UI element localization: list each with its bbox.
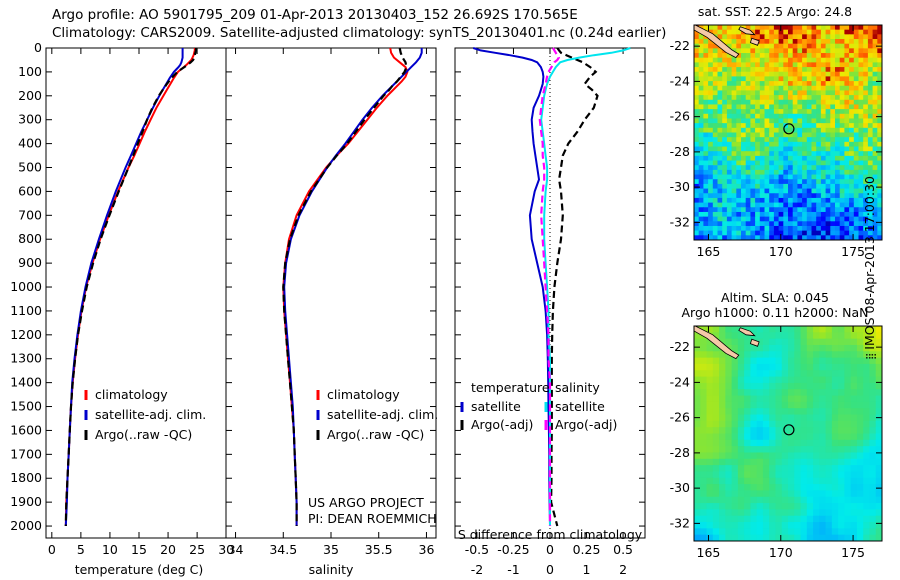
map-cell xyxy=(819,332,826,339)
map-cell xyxy=(779,53,784,58)
map-cell xyxy=(722,67,727,72)
map-cell xyxy=(873,86,878,91)
map-cell xyxy=(750,95,755,100)
map-cell xyxy=(725,478,732,485)
map-cell xyxy=(863,137,868,142)
map-cell xyxy=(732,175,737,180)
map-cell xyxy=(694,358,701,365)
map-cell xyxy=(844,48,849,53)
map-cell xyxy=(746,123,751,128)
map-cell xyxy=(830,221,835,226)
map-cell xyxy=(699,217,704,222)
map-cell xyxy=(813,345,820,352)
map-cell xyxy=(757,465,764,472)
map-cell xyxy=(835,203,840,208)
map-cell xyxy=(835,147,840,152)
map-cell xyxy=(807,364,814,371)
depth-tick-label: 1400 xyxy=(10,375,42,390)
map-cell xyxy=(750,446,757,453)
map-cell xyxy=(738,484,745,491)
map-cell xyxy=(830,44,835,49)
map-cell xyxy=(849,58,854,63)
map-cell xyxy=(769,226,774,231)
map-cell xyxy=(873,67,878,72)
map-cell xyxy=(793,100,798,105)
map-cell xyxy=(694,509,701,516)
map-cell xyxy=(774,39,779,44)
map-cell xyxy=(807,497,814,504)
map-cell xyxy=(769,203,774,208)
map-cell xyxy=(765,25,770,30)
map-cell xyxy=(732,427,739,434)
map-cell xyxy=(732,459,739,466)
map-cell xyxy=(849,100,854,105)
map-cell xyxy=(783,151,788,156)
map-cell xyxy=(694,39,699,44)
map-cell xyxy=(838,509,845,516)
map-cell xyxy=(750,170,755,175)
map-cell xyxy=(835,39,840,44)
map-cell xyxy=(794,358,801,365)
map-cell xyxy=(840,90,845,95)
map-cell xyxy=(835,226,840,231)
map-cell xyxy=(713,471,720,478)
map-cell xyxy=(849,226,854,231)
map-cell xyxy=(802,207,807,212)
map-cell xyxy=(826,351,833,358)
map-cell xyxy=(794,345,801,352)
lat-tick-label: -30 xyxy=(670,179,690,194)
map-cell xyxy=(788,459,795,466)
map-cell xyxy=(763,332,770,339)
map-cell xyxy=(819,434,826,441)
map-cell xyxy=(718,179,723,184)
map-cell xyxy=(788,490,795,497)
map-cell xyxy=(741,39,746,44)
map-cell xyxy=(854,109,859,114)
x-tick-label: 34.5 xyxy=(269,542,297,557)
map-cell xyxy=(854,142,859,147)
map-cell xyxy=(851,503,858,510)
map-cell xyxy=(797,128,802,133)
map-cell xyxy=(863,427,870,434)
map-cell xyxy=(775,389,782,396)
map-cell xyxy=(788,377,795,384)
map-cell xyxy=(755,30,760,35)
map-cell xyxy=(763,509,770,516)
map-cell xyxy=(783,39,788,44)
map-cell xyxy=(736,72,741,77)
map-cell xyxy=(794,465,801,472)
x-tick-label: 25 xyxy=(189,542,205,557)
map-cell xyxy=(708,156,713,161)
map-cell xyxy=(736,226,741,231)
map-cell xyxy=(840,114,845,119)
map-cell xyxy=(788,44,793,49)
map-cell xyxy=(816,104,821,109)
map-cell xyxy=(869,503,876,510)
map-cell xyxy=(700,345,707,352)
map-cell xyxy=(732,484,739,491)
map-cell xyxy=(746,128,751,133)
map-cell xyxy=(736,212,741,217)
map-cell xyxy=(774,128,779,133)
map-cell xyxy=(782,478,789,485)
map-cell xyxy=(755,207,760,212)
map-cell xyxy=(760,67,765,72)
map-cell xyxy=(832,358,839,365)
map-cell xyxy=(763,421,770,428)
map-cell xyxy=(765,217,770,222)
map-cell xyxy=(757,516,764,523)
map-cell xyxy=(746,86,751,91)
map-cell xyxy=(738,364,745,371)
map-cell xyxy=(769,165,774,170)
map-cell xyxy=(849,179,854,184)
map-cell xyxy=(750,165,755,170)
map-cell xyxy=(835,104,840,109)
map-cell xyxy=(694,104,699,109)
map-cell xyxy=(765,133,770,138)
map-cell xyxy=(840,212,845,217)
map-cell xyxy=(821,25,826,30)
credit-line-1: US ARGO PROJECT xyxy=(308,495,424,510)
map-cell xyxy=(708,72,713,77)
map-cell xyxy=(779,142,784,147)
map-cell xyxy=(700,497,707,504)
map-cell xyxy=(750,142,755,147)
map-cell xyxy=(826,189,831,194)
map-cell xyxy=(718,109,723,114)
map-cell xyxy=(727,203,732,208)
map-cell xyxy=(775,408,782,415)
map-cell xyxy=(863,383,870,390)
map-cell xyxy=(788,351,795,358)
map-cell xyxy=(736,193,741,198)
map-cell xyxy=(779,118,784,123)
map-cell xyxy=(783,217,788,222)
map-cell xyxy=(707,364,714,371)
map-cell xyxy=(760,156,765,161)
map-cell xyxy=(821,95,826,100)
map-cell xyxy=(727,226,732,231)
map-cell xyxy=(725,377,732,384)
map-cell xyxy=(769,497,776,504)
map-cell xyxy=(694,142,699,147)
x-tick-label: 1 xyxy=(583,562,591,577)
map-cell xyxy=(802,118,807,123)
map-cell xyxy=(844,114,849,119)
map-cell xyxy=(826,478,833,485)
map-cell xyxy=(755,53,760,58)
map-cell xyxy=(835,109,840,114)
map-cell xyxy=(801,503,808,510)
map-cell xyxy=(755,118,760,123)
map-cell xyxy=(750,221,755,226)
map-cell xyxy=(807,137,812,142)
map-cell xyxy=(844,415,851,422)
map-cell xyxy=(718,58,723,63)
map-cell xyxy=(859,142,864,147)
map-cell xyxy=(788,408,795,415)
map-cell xyxy=(782,516,789,523)
map-cell xyxy=(830,189,835,194)
map-cell xyxy=(844,198,849,203)
map-cell xyxy=(859,62,864,67)
map-cell xyxy=(700,396,707,403)
map-cell xyxy=(703,179,708,184)
map-cell xyxy=(736,142,741,147)
map-cell xyxy=(826,364,833,371)
map-cell xyxy=(873,147,878,152)
map-cell xyxy=(812,212,817,217)
map-cell xyxy=(869,465,876,472)
map-cell xyxy=(699,67,704,72)
map-cell xyxy=(849,147,854,152)
map-cell xyxy=(826,67,831,72)
map-cell xyxy=(765,198,770,203)
map-cell xyxy=(797,203,802,208)
map-cell xyxy=(844,76,849,81)
map-cell xyxy=(788,34,793,39)
map-cell xyxy=(779,203,784,208)
map-cell xyxy=(707,471,714,478)
map-cell xyxy=(868,53,873,58)
map-cell xyxy=(763,389,770,396)
map-cell xyxy=(757,427,764,434)
map-cell xyxy=(783,207,788,212)
map-cell xyxy=(719,415,726,422)
map-cell xyxy=(854,151,859,156)
map-cell xyxy=(859,53,864,58)
map-cell xyxy=(819,339,826,346)
map-cell xyxy=(741,86,746,91)
map-cell xyxy=(859,72,864,77)
map-cell xyxy=(783,137,788,142)
map-cell xyxy=(744,490,751,497)
map-cell xyxy=(760,179,765,184)
map-cell xyxy=(694,86,699,91)
map-cell xyxy=(826,58,831,63)
map-cell xyxy=(699,156,704,161)
map-cell xyxy=(793,76,798,81)
map-cell xyxy=(732,522,739,529)
map-cell xyxy=(863,81,868,86)
map-cell xyxy=(849,72,854,77)
map-cell xyxy=(838,434,845,441)
map-cell xyxy=(813,364,820,371)
map-cell xyxy=(807,179,812,184)
map-cell xyxy=(859,86,864,91)
map-cell xyxy=(835,76,840,81)
map-cell xyxy=(774,231,779,236)
map-cell xyxy=(757,351,764,358)
map-cell xyxy=(732,364,739,371)
map-cell xyxy=(736,156,741,161)
map-cell xyxy=(844,118,849,123)
map-cell xyxy=(774,58,779,63)
map-cell xyxy=(750,528,757,535)
map-cell xyxy=(840,142,845,147)
map-cell xyxy=(821,137,826,142)
map-cell xyxy=(844,221,849,226)
map-cell xyxy=(713,231,718,236)
map-cell xyxy=(738,490,745,497)
map-cell xyxy=(826,118,831,123)
map-cell xyxy=(719,452,726,459)
map-cell xyxy=(713,446,720,453)
map-cell xyxy=(713,434,720,441)
map-cell xyxy=(873,25,878,30)
map-cell xyxy=(788,528,795,535)
map-cell xyxy=(760,221,765,226)
map-cell xyxy=(816,142,821,147)
map-cell xyxy=(802,189,807,194)
map-cell xyxy=(699,170,704,175)
map-cell xyxy=(844,516,851,523)
map-cell xyxy=(744,440,751,447)
map-cell xyxy=(869,364,876,371)
map-cell xyxy=(813,522,820,529)
map-cell xyxy=(835,53,840,58)
map-cell xyxy=(750,156,755,161)
map-cell xyxy=(713,114,718,119)
map-cell xyxy=(863,67,868,72)
map-cell xyxy=(713,396,720,403)
map-cell xyxy=(788,95,793,100)
map-cell xyxy=(727,90,732,95)
map-cell xyxy=(813,478,820,485)
map-cell xyxy=(832,497,839,504)
map-cell xyxy=(757,389,764,396)
map-cell xyxy=(703,123,708,128)
map-cell xyxy=(849,53,854,58)
map-cell xyxy=(746,95,751,100)
map-cell xyxy=(788,358,795,365)
map-cell xyxy=(840,81,845,86)
map-cell xyxy=(857,452,864,459)
map-cell xyxy=(725,408,732,415)
map-cell xyxy=(802,217,807,222)
map-cell xyxy=(849,44,854,49)
map-cell xyxy=(844,358,851,365)
map-cell xyxy=(769,72,774,77)
map-cell xyxy=(699,161,704,166)
map-cell xyxy=(732,389,739,396)
map-cell xyxy=(802,231,807,236)
x-axis-label: salinity xyxy=(309,562,354,577)
map-cell xyxy=(794,497,801,504)
map-cell xyxy=(859,58,864,63)
map-cell xyxy=(694,156,699,161)
map-cell xyxy=(788,509,795,516)
map-cell xyxy=(835,165,840,170)
map-cell xyxy=(807,212,812,217)
map-cell xyxy=(840,170,845,175)
map-cell xyxy=(699,207,704,212)
map-cell xyxy=(812,226,817,231)
map-cell xyxy=(774,133,779,138)
map-cell xyxy=(826,459,833,466)
map-cell xyxy=(699,226,704,231)
map-cell xyxy=(832,446,839,453)
map-cell xyxy=(794,440,801,447)
map-cell xyxy=(722,72,727,77)
map-cell xyxy=(694,212,699,217)
map-cell xyxy=(703,118,708,123)
map-cell xyxy=(736,170,741,175)
map-cell xyxy=(713,81,718,86)
map-cell xyxy=(813,351,820,358)
map-cell xyxy=(746,44,751,49)
map-cell xyxy=(744,358,751,365)
map-cell xyxy=(694,118,699,123)
map-cell xyxy=(849,156,854,161)
map-cell xyxy=(700,364,707,371)
map-cell xyxy=(859,100,864,105)
map-cell xyxy=(797,34,802,39)
map-cell xyxy=(863,114,868,119)
map-cell xyxy=(757,471,764,478)
map-cell xyxy=(722,189,727,194)
map-cell xyxy=(832,332,839,339)
map-cell xyxy=(797,48,802,53)
map-cell xyxy=(779,175,784,180)
map-cell xyxy=(760,142,765,147)
map-cell xyxy=(746,142,751,147)
map-cell xyxy=(793,62,798,67)
map-cell xyxy=(769,109,774,114)
map-cell xyxy=(782,326,789,333)
map-cell xyxy=(844,503,851,510)
map-cell xyxy=(699,90,704,95)
map-cell xyxy=(738,434,745,441)
map-cell xyxy=(816,175,821,180)
map-cell xyxy=(707,421,714,428)
map-cell xyxy=(760,90,765,95)
map-cell xyxy=(694,34,699,39)
map-cell xyxy=(732,326,739,333)
depth-tick-label: 600 xyxy=(18,183,42,198)
map-cell xyxy=(769,184,774,189)
map-cell xyxy=(863,48,868,53)
map-cell xyxy=(718,114,723,119)
map-cell xyxy=(813,452,820,459)
map-cell xyxy=(727,207,732,212)
map-cell xyxy=(760,147,765,152)
map-cell xyxy=(868,86,873,91)
map-cell xyxy=(700,408,707,415)
map-cell xyxy=(694,100,699,105)
map-cell xyxy=(844,408,851,415)
s-diff-tick-label: 0 xyxy=(546,542,554,557)
map-cell xyxy=(788,100,793,105)
map-cell xyxy=(765,151,770,156)
map-cell xyxy=(708,133,713,138)
map-cell xyxy=(807,109,812,114)
legend-label: Argo(..raw -QC) xyxy=(95,427,192,442)
map-cell xyxy=(775,332,782,339)
map-cell xyxy=(760,231,765,236)
map-cell xyxy=(699,86,704,91)
map-cell xyxy=(775,351,782,358)
map-cell xyxy=(775,415,782,422)
map-cell xyxy=(760,123,765,128)
map-cell xyxy=(783,30,788,35)
map-cell xyxy=(755,81,760,86)
map-cell xyxy=(851,478,858,485)
map-cell xyxy=(813,415,820,422)
